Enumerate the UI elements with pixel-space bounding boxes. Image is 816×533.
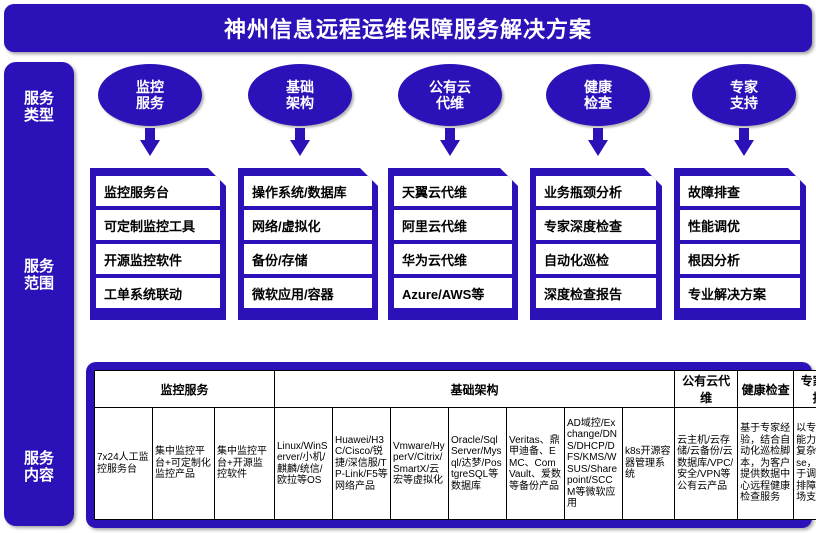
- scope-box-expert-support[interactable]: 故障排查 性能调优 根因分析 专业解决方案: [674, 168, 806, 320]
- down-arrow-icon: [440, 128, 460, 156]
- scope-item[interactable]: 工单系统联动: [96, 278, 220, 308]
- sidebar-item-service-content-line1: 服务: [4, 450, 74, 467]
- service-type-node-expert-support[interactable]: 专家 支持: [692, 64, 796, 156]
- down-arrow-icon: [734, 128, 754, 156]
- service-type-label-health-check-line2: 检查: [584, 95, 612, 111]
- service-content-table: 监控服务 基础架构 公有云代维 健康检查 专家支持 7x24人工监控服务台 集中…: [94, 370, 816, 520]
- service-type-node-public-cloud[interactable]: 公有云 代维: [398, 64, 502, 156]
- service-type-label-infrastructure-line2: 架构: [286, 95, 314, 111]
- diagram-canvas: 神州信息远程运维保障服务解决方案 服务 类型 服务 范围 服务 内容 监控 服务…: [0, 0, 816, 533]
- table-header-expert-support: 专家支持: [794, 371, 816, 408]
- table-cell: Veritas、鼎甲迪备、EMC、ComVault、爱数等备份产品: [507, 408, 565, 520]
- table-header-public-cloud: 公有云代维: [675, 371, 738, 408]
- scope-item[interactable]: 开源监控软件: [96, 244, 220, 274]
- table-cell: 集中监控平台+开源监控软件: [215, 408, 275, 520]
- table-cell: AD域控/Exchange/DNS/DHCP/DFS/KMS/WSUS/Shar…: [565, 408, 623, 520]
- service-type-ellipse-infrastructure[interactable]: 基础 架构: [248, 64, 352, 126]
- table-cell: 基于专家经验，结合自动化巡检脚本，为客户提供数据中心远程健康检查服务: [738, 408, 794, 520]
- service-type-label-public-cloud-line2: 代维: [436, 95, 464, 111]
- service-type-node-health-check[interactable]: 健康 检查: [546, 64, 650, 156]
- service-type-label-monitoring-line1: 监控: [136, 79, 164, 95]
- scope-item[interactable]: 阿里云代维: [394, 210, 512, 240]
- scope-item[interactable]: 操作系统/数据库: [244, 176, 372, 206]
- scope-item[interactable]: 专业解决方案: [680, 278, 800, 308]
- table-cell: Huawei/H3C/Cisco/锐捷/深信服/TP-Link/F5等网络产品: [333, 408, 391, 520]
- table-cell: Vmware/HyperV/Citrix/SmartX/云宏等虚拟化: [391, 408, 449, 520]
- scope-item[interactable]: 天翼云代维: [394, 176, 512, 206]
- service-type-label-expert-support-line1: 专家: [730, 79, 758, 95]
- service-content-panel: 监控服务 基础架构 公有云代维 健康检查 专家支持 7x24人工监控服务台 集中…: [86, 362, 812, 528]
- sidebar-item-service-scope: 服务 范围: [4, 258, 74, 292]
- page-title-bar: 神州信息远程运维保障服务解决方案: [4, 4, 812, 52]
- service-type-label-health-check-line1: 健康: [584, 79, 612, 95]
- service-type-node-monitoring[interactable]: 监控 服务: [98, 64, 202, 156]
- table-cell: 集中监控平台+可定制化监控产品: [153, 408, 215, 520]
- table-header-monitoring: 监控服务: [95, 371, 275, 408]
- service-type-label-infrastructure-line1: 基础: [286, 79, 314, 95]
- service-type-label-monitoring-line2: 服务: [136, 95, 164, 111]
- sidebar: 服务 类型 服务 范围 服务 内容: [4, 62, 74, 526]
- scope-item[interactable]: 自动化巡检: [536, 244, 656, 274]
- sidebar-item-service-content-line2: 内容: [4, 467, 74, 484]
- service-type-ellipse-expert-support[interactable]: 专家 支持: [692, 64, 796, 126]
- scope-item[interactable]: Azure/AWS等: [394, 278, 512, 308]
- scope-item[interactable]: 业务瓶颈分析: [536, 176, 656, 206]
- scope-box-infrastructure[interactable]: 操作系统/数据库 网络/虚拟化 备份/存储 微软应用/容器: [238, 168, 378, 320]
- scope-item[interactable]: 根因分析: [680, 244, 800, 274]
- page-title: 神州信息远程运维保障服务解决方案: [224, 12, 592, 44]
- scope-item[interactable]: 性能调优: [680, 210, 800, 240]
- table-cell: k8s开源容器管理系统: [623, 408, 675, 520]
- sidebar-item-service-type-line1: 服务: [4, 90, 74, 107]
- scope-item[interactable]: 监控服务台: [96, 176, 220, 206]
- scope-box-monitoring[interactable]: 监控服务台 可定制监控工具 开源监控软件 工单系统联动: [90, 168, 226, 320]
- down-arrow-icon: [140, 128, 160, 156]
- scope-item[interactable]: 微软应用/容器: [244, 278, 372, 308]
- scope-item[interactable]: 可定制监控工具: [96, 210, 220, 240]
- table-row: 7x24人工监控服务台 集中监控平台+可定制化监控产品 集中监控平台+开源监控软…: [95, 408, 816, 520]
- scope-item[interactable]: 专家深度检查: [536, 210, 656, 240]
- service-type-ellipse-health-check[interactable]: 健康 检查: [546, 64, 650, 126]
- table-cell: 以专家的能力支持复杂的Case，不限于调优、排障、现场支持: [794, 408, 816, 520]
- sidebar-item-service-scope-line2: 范围: [4, 275, 74, 292]
- service-type-label-expert-support-line2: 支持: [730, 95, 758, 111]
- scope-item[interactable]: 备份/存储: [244, 244, 372, 274]
- table-cell: 7x24人工监控服务台: [95, 408, 153, 520]
- table-cell: Oracle/SqlServer/Mysql/达梦/PostgreSQL等数据库: [449, 408, 507, 520]
- table-cell: 云主机/云存储/云备份/云数据库/VPC/安全/VPN等公有云产品: [675, 408, 738, 520]
- scope-item[interactable]: 网络/虚拟化: [244, 210, 372, 240]
- table-header-row: 监控服务 基础架构 公有云代维 健康检查 专家支持: [95, 371, 816, 408]
- sidebar-item-service-type: 服务 类型: [4, 90, 74, 124]
- service-type-ellipse-monitoring[interactable]: 监控 服务: [98, 64, 202, 126]
- sidebar-item-service-scope-line1: 服务: [4, 258, 74, 275]
- sidebar-item-service-type-line2: 类型: [4, 107, 74, 124]
- table-cell: Linux/WinServer/小机/麒麟/统信/欧拉等OS: [275, 408, 333, 520]
- scope-item[interactable]: 深度检查报告: [536, 278, 656, 308]
- service-type-node-infrastructure[interactable]: 基础 架构: [248, 64, 352, 156]
- sidebar-item-service-content: 服务 内容: [4, 450, 74, 484]
- scope-item[interactable]: 故障排查: [680, 176, 800, 206]
- scope-item[interactable]: 华为云代维: [394, 244, 512, 274]
- table-header-health-check: 健康检查: [738, 371, 794, 408]
- down-arrow-icon: [588, 128, 608, 156]
- service-type-label-public-cloud-line1: 公有云: [429, 79, 471, 95]
- scope-box-public-cloud[interactable]: 天翼云代维 阿里云代维 华为云代维 Azure/AWS等: [388, 168, 518, 320]
- scope-box-health-check[interactable]: 业务瓶颈分析 专家深度检查 自动化巡检 深度检查报告: [530, 168, 662, 320]
- service-type-ellipse-public-cloud[interactable]: 公有云 代维: [398, 64, 502, 126]
- table-header-infrastructure: 基础架构: [275, 371, 675, 408]
- down-arrow-icon: [290, 128, 310, 156]
